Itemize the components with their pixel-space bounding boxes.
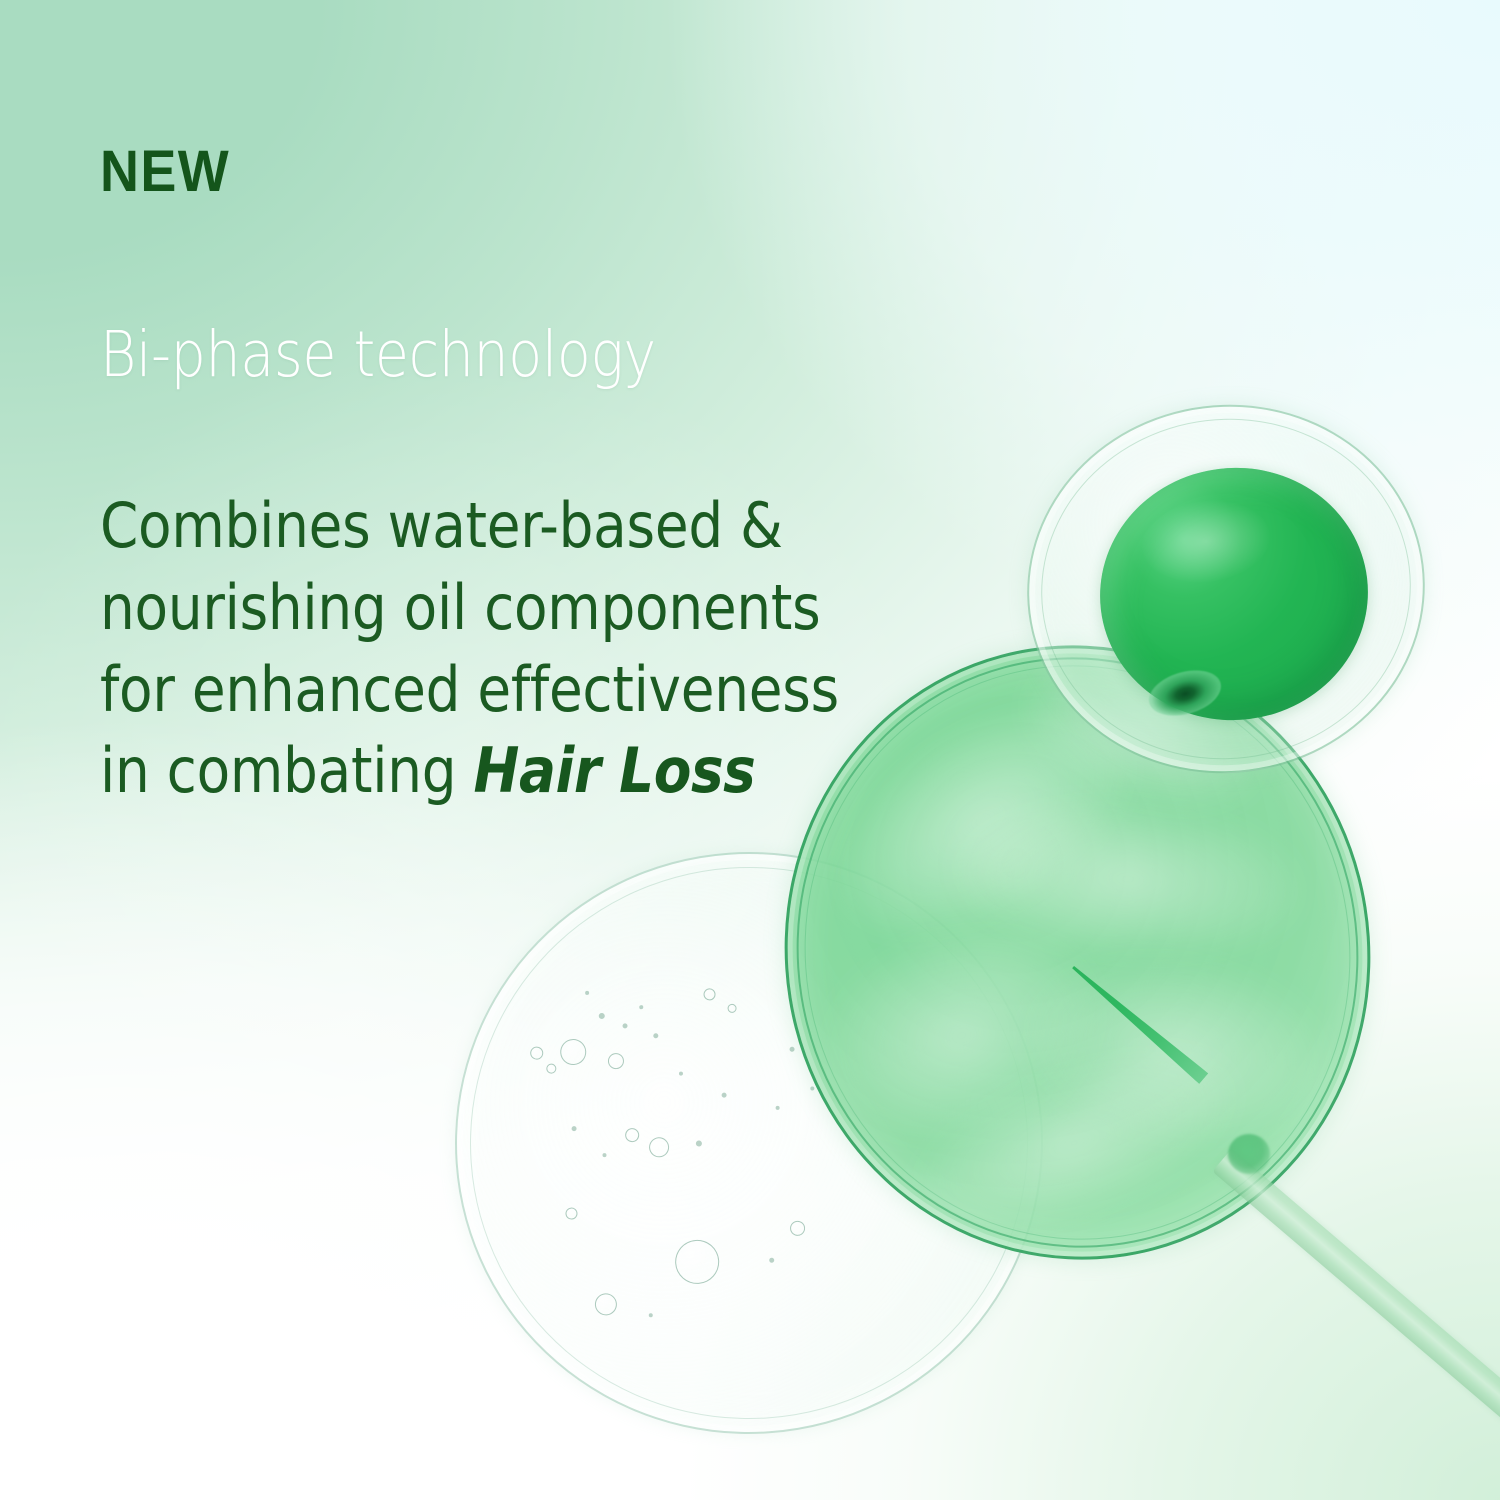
body-line-1: Combines water-based &	[100, 485, 839, 567]
pipette-joint	[1228, 1134, 1270, 1174]
body-emphasis-hair-loss: Hair Loss	[473, 734, 755, 807]
page-title: Bi-phase technology	[100, 322, 656, 388]
body-line-3: for enhanced effectiveness	[100, 649, 839, 731]
body-line-4: in combating Hair Loss	[100, 730, 839, 812]
kicker-new: NEW	[100, 143, 230, 201]
pipette-stem	[1212, 1149, 1500, 1445]
product-claim-poster: NEW Bi-phase technology Combines water-b…	[0, 0, 1500, 1500]
body-line-4-text: in combating	[100, 734, 473, 807]
body-line-2: nourishing oil components	[100, 567, 839, 649]
body-copy: Combines water-based & nourishing oil co…	[100, 485, 839, 812]
